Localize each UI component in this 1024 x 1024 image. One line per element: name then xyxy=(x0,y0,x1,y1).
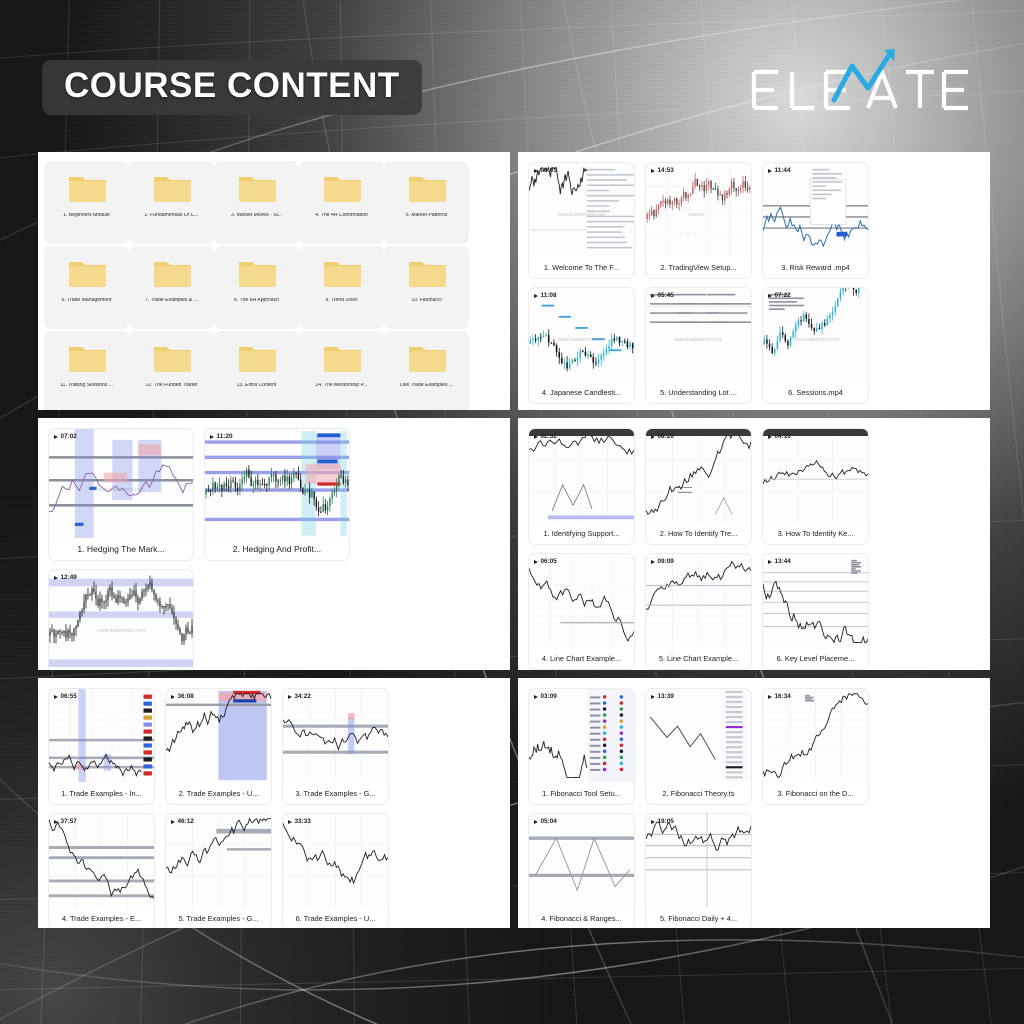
folder-item[interactable]: 12. The Funded Trader xyxy=(129,331,214,410)
play-icon xyxy=(768,294,772,298)
folder-item[interactable]: 1. Beginners Module xyxy=(44,161,129,244)
video-thumbnail[interactable]: 46:12 5. Trade Examples - G... xyxy=(165,813,272,928)
video-duration: 04:10 xyxy=(768,433,791,440)
play-icon xyxy=(171,695,175,699)
video-title: 1. Fibonacci Tool Setu... xyxy=(529,782,634,804)
video-preview xyxy=(646,554,751,647)
panel-fibonacci[interactable]: 03:09 1. Fibonacci Tool Setu...13:39 2. … xyxy=(518,678,990,928)
folder-icon xyxy=(152,341,192,373)
panel-course-folders[interactable]: 1. Beginners Module2. Fundamentals Of C.… xyxy=(38,152,510,410)
duration-text: 34:22 xyxy=(295,693,311,700)
video-duration: 07:22 xyxy=(768,292,791,299)
video-thumbnail[interactable]: 36:08 2. Trade Examples - U... xyxy=(165,688,272,805)
duration-text: 06:55 xyxy=(61,693,77,700)
play-icon xyxy=(210,435,214,439)
video-thumbnail[interactable]: 13:39 2. Fibonacci Theory.ts xyxy=(645,688,752,805)
video-title: 4. Fibonacci & Ranges... xyxy=(529,907,634,928)
video-thumbnail[interactable]: 03:09 1. Fibonacci Tool Setu... xyxy=(528,688,635,805)
play-icon xyxy=(651,695,655,699)
duration-text: 13:39 xyxy=(658,693,674,700)
folder-label: 14. The Mentorship P... xyxy=(302,383,382,389)
play-icon xyxy=(651,560,655,564)
watermark: www.tradesmint.com xyxy=(253,487,301,493)
folder-icon xyxy=(237,171,277,203)
duration-text: 06:05 xyxy=(541,558,557,565)
folder-item[interactable]: 6. Trade Management xyxy=(44,246,129,329)
video-duration: 14:53 xyxy=(651,167,674,174)
video-duration: 12:49 xyxy=(54,574,77,581)
video-thumbnail[interactable]: 07:22 www.tradesmint.com6. Sessions.mp4 xyxy=(762,287,869,404)
duration-text: 07:02 xyxy=(61,433,77,440)
video-duration: 19:05 xyxy=(651,818,674,825)
play-icon xyxy=(651,169,655,173)
duration-text: 16:34 xyxy=(775,693,791,700)
video-title: 5. Fibonacci Daily + 4... xyxy=(646,907,751,928)
play-icon xyxy=(768,435,772,439)
duration-text: 19:05 xyxy=(658,818,674,825)
folder-icon xyxy=(152,171,192,203)
video-thumbnail[interactable]: 06:55 1. Trade Examples - In... xyxy=(48,688,155,805)
play-icon xyxy=(534,560,538,564)
video-duration: 08:26 xyxy=(651,433,674,440)
duration-text: 14:53 xyxy=(658,167,674,174)
folder-icon xyxy=(152,256,192,288)
folder-icon xyxy=(322,171,362,203)
video-duration: 13:39 xyxy=(651,693,674,700)
video-preview xyxy=(283,689,388,782)
watermark: www.tradesmint.com xyxy=(558,337,606,343)
video-duration: 03:09 xyxy=(534,693,557,700)
folder-label: 2. Fundamentals Of C... xyxy=(132,213,212,219)
folder-label: Live Trade Examples ... xyxy=(387,383,467,389)
folder-icon xyxy=(67,171,107,203)
video-title: 6. Trade Examples - U... xyxy=(283,907,388,928)
folder-item[interactable]: 11. Trading Sessions ... xyxy=(44,331,129,410)
play-icon xyxy=(54,820,58,824)
play-icon xyxy=(768,695,772,699)
duration-text: 11:44 xyxy=(775,167,791,174)
video-preview xyxy=(529,689,634,782)
video-title: 1. Hedging The Mark... xyxy=(49,538,193,560)
folder-label: 12. The Funded Trader xyxy=(132,383,212,389)
video-title: 2. TradingView Setup... xyxy=(646,256,751,278)
folder-icon xyxy=(322,256,362,288)
duration-text: 11:08 xyxy=(541,292,557,299)
watermark: www.tradesmint.com xyxy=(558,212,606,218)
folder-item[interactable]: 7. Trade Examples & ... xyxy=(129,246,214,329)
folder-icon xyxy=(407,341,447,373)
play-icon xyxy=(651,294,655,298)
folder-label: 10. Fibonacci xyxy=(387,298,467,304)
video-preview: www.tradesmint.com xyxy=(646,288,751,381)
video-preview xyxy=(529,429,634,522)
video-thumbnail[interactable]: 04:10 3. How To Identify Ke... xyxy=(762,428,869,545)
panel-grid: 1. Beginners Module2. Fundamentals Of C.… xyxy=(38,152,990,922)
video-thumbnail[interactable]: 16:34 3. Fibonacci on the D... xyxy=(762,688,869,805)
video-title: 6. Key Level Placeme... xyxy=(763,647,868,669)
video-thumbnail[interactable]: 37:57 4. Trade Examples - E... xyxy=(48,813,155,928)
video-duration: 11:44 xyxy=(768,167,791,174)
video-preview: www.tradesmint.com xyxy=(763,288,868,381)
video-title: 2. Hedging And Profit... xyxy=(205,538,349,560)
folder-item[interactable]: 10. Fibonacci xyxy=(384,246,469,329)
video-duration: 13:44 xyxy=(768,558,791,565)
video-title: 1. Identifying Support... xyxy=(529,522,634,544)
duration-text: 03:09 xyxy=(541,693,557,700)
folder-label: 7. Trade Examples & ... xyxy=(132,298,212,304)
folder-icon xyxy=(407,256,447,288)
folder-item[interactable]: 13. Extra Content xyxy=(214,331,299,410)
play-icon xyxy=(534,820,538,824)
video-preview xyxy=(283,814,388,907)
play-icon xyxy=(54,576,58,580)
folder-label: 13. Extra Content xyxy=(217,383,297,389)
duration-text: 05:45 xyxy=(658,292,674,299)
video-preview: www.tradesmint.com xyxy=(529,288,634,381)
video-duration: 07:02 xyxy=(54,433,77,440)
video-duration: 06:55 xyxy=(54,693,77,700)
video-preview: www.tradesmint.com xyxy=(529,163,634,256)
duration-text: 05:04 xyxy=(541,818,557,825)
folder-item[interactable]: 8. The 6H Approach xyxy=(214,246,299,329)
video-thumbnail[interactable]: 33:336. Trade Examples - U... xyxy=(282,813,389,928)
play-icon xyxy=(288,695,292,699)
video-thumbnail[interactable]: 11:08 www.tradesmint.com4. Japanese Cand… xyxy=(528,287,635,404)
video-title: 3. Fibonacci on the D... xyxy=(763,782,868,804)
duration-text: 13:44 xyxy=(775,558,791,565)
play-icon xyxy=(288,820,292,824)
folder-item[interactable]: 14. The Mentorship P... xyxy=(299,331,384,410)
video-title: 2. Trade Examples - U... xyxy=(166,782,271,804)
play-icon xyxy=(651,820,655,824)
folder-item[interactable]: 3. Market Moves - Si... xyxy=(214,161,299,244)
video-duration: 08:01 xyxy=(534,167,557,174)
folder-item[interactable]: 2. Fundamentals Of C... xyxy=(129,161,214,244)
video-thumbnail[interactable]: 13:44 6. Key Level Placeme... xyxy=(762,553,869,670)
folder-label: 11. Trading Sessions ... xyxy=(47,383,127,389)
video-thumbnail[interactable]: 02:32 1. Identifying Support... xyxy=(528,428,635,545)
video-preview xyxy=(763,163,868,256)
folder-icon xyxy=(237,341,277,373)
folder-item[interactable]: 9. Trend Lines xyxy=(299,246,384,329)
video-preview xyxy=(529,814,634,907)
elevate-logo xyxy=(748,48,978,120)
video-thumbnail[interactable]: 05:04 4. Fibonacci & Ranges... xyxy=(528,813,635,928)
play-icon xyxy=(54,695,58,699)
video-duration: 11:08 xyxy=(534,292,557,299)
video-title: 4. Japanese Candlesti... xyxy=(529,381,634,403)
video-preview xyxy=(763,554,868,647)
play-icon xyxy=(651,435,655,439)
folder-item[interactable]: 4. The 4H Confirmation xyxy=(299,161,384,244)
video-duration: 46:12 xyxy=(171,818,194,825)
video-preview xyxy=(49,689,154,782)
video-preview xyxy=(166,814,271,907)
duration-text: 37:57 xyxy=(61,818,77,825)
video-thumbnail[interactable]: 19:05 5. Fibonacci Daily + 4... xyxy=(645,813,752,928)
video-preview xyxy=(646,689,751,782)
duration-text: 46:12 xyxy=(178,818,194,825)
video-duration: 33:33 xyxy=(288,818,311,825)
play-icon xyxy=(534,294,538,298)
watermark: www.tradesmint.com xyxy=(675,337,723,343)
video-title: 4. Line Chart Example... xyxy=(529,647,634,669)
folder-label: 9. Trend Lines xyxy=(302,298,382,304)
video-duration: 36:08 xyxy=(171,693,194,700)
video-preview: www.tradesmint.com xyxy=(49,429,193,538)
video-title: 2. Fibonacci Theory.ts xyxy=(646,782,751,804)
video-title: 2. How To Identify Tre... xyxy=(646,522,751,544)
duration-text: 36:08 xyxy=(178,693,194,700)
video-preview xyxy=(763,689,868,782)
panel-trade-management[interactable]: 07:02 www.tradesmint.com1. Hedging The M… xyxy=(38,418,510,670)
play-icon xyxy=(171,820,175,824)
video-thumbnail[interactable]: 08:26 2. How To Identify Tre... xyxy=(645,428,752,545)
page-title-text: COURSE CONTENT xyxy=(64,68,400,105)
duration-text: 33:33 xyxy=(295,818,311,825)
video-thumbnail[interactable]: 07:02 www.tradesmint.com1. Hedging The M… xyxy=(48,428,194,561)
video-preview xyxy=(646,429,751,522)
video-duration: 11:20 xyxy=(210,433,233,440)
folder-item[interactable]: Live Trade Examples ... xyxy=(384,331,469,410)
video-duration: 37:57 xyxy=(54,818,77,825)
duration-text: 04:10 xyxy=(775,433,791,440)
panel-trend-lines[interactable]: 02:32 1. Identifying Support...08:26 2. … xyxy=(518,418,990,670)
watermark: www.tradesmint.com xyxy=(97,487,145,493)
watermark: www.tr... xyxy=(689,212,709,218)
video-duration: 05:04 xyxy=(534,818,557,825)
play-icon xyxy=(768,169,772,173)
video-title: 3. How To Identify Ke... xyxy=(763,522,868,544)
folder-label: 4. The 4H Confirmation xyxy=(302,213,382,219)
video-thumbnail[interactable]: 09:09 5. Line Chart Example... xyxy=(645,553,752,670)
folder-item[interactable]: 5. Market Patterns xyxy=(384,161,469,244)
play-icon xyxy=(534,435,538,439)
video-title: 6. Sessions.mp4 xyxy=(763,381,868,403)
video-thumbnail[interactable]: 12:49 www.tradesmint.com3. Fakeouts & St… xyxy=(48,569,194,670)
video-title: 5. Understanding Lot ... xyxy=(646,381,751,403)
video-title: 1. Trade Examples - In... xyxy=(49,782,154,804)
video-thumbnail[interactable]: 34:22 3. Trade Examples - G... xyxy=(282,688,389,805)
video-preview xyxy=(49,814,154,907)
video-title: 3. Trade Examples - G... xyxy=(283,782,388,804)
video-thumbnail[interactable]: 06:05 4. Line Chart Example... xyxy=(528,553,635,670)
duration-text: 08:26 xyxy=(658,433,674,440)
video-title: 5. Line Chart Example... xyxy=(646,647,751,669)
video-duration: 06:05 xyxy=(534,558,557,565)
video-title: 4. Trade Examples - E... xyxy=(49,907,154,928)
page-title: COURSE CONTENT xyxy=(42,60,422,115)
folder-label: 1. Beginners Module xyxy=(47,213,127,219)
video-title: 3. Risk Reward .mp4 xyxy=(763,256,868,278)
video-thumbnail[interactable]: 11:20 www.tradesmint.com2. Hedging And P… xyxy=(204,428,350,561)
watermark: www.tradesmint.com xyxy=(792,337,840,343)
page-header: COURSE CONTENT xyxy=(0,0,1024,140)
duration-text: 11:20 xyxy=(217,433,233,440)
folder-label: 5. Market Patterns xyxy=(387,213,467,219)
video-preview xyxy=(166,689,271,782)
video-duration: 34:22 xyxy=(288,693,311,700)
play-icon xyxy=(534,169,538,173)
video-preview: www.tradesmint.com xyxy=(49,570,193,670)
video-duration: 16:34 xyxy=(768,693,791,700)
duration-text: 09:09 xyxy=(658,558,674,565)
play-icon xyxy=(54,435,58,439)
video-thumbnail[interactable]: 11:44 3. Risk Reward .mp4 xyxy=(762,162,869,279)
video-thumbnail[interactable]: 08:01 www.tradesmint.com1. Welcome To Th… xyxy=(528,162,635,279)
video-duration: 05:45 xyxy=(651,292,674,299)
folder-icon xyxy=(322,341,362,373)
video-title: 5. Trade Examples - G... xyxy=(166,907,271,928)
folder-icon xyxy=(407,171,447,203)
video-preview xyxy=(529,554,634,647)
video-preview: www.tr... xyxy=(646,163,751,256)
video-preview xyxy=(646,814,751,907)
play-icon xyxy=(768,560,772,564)
video-duration: 09:09 xyxy=(651,558,674,565)
video-thumbnail[interactable]: 14:53www.tr...2. TradingView Setup... xyxy=(645,162,752,279)
play-icon xyxy=(534,695,538,699)
folder-label: 8. The 6H Approach xyxy=(217,298,297,304)
folder-label: 6. Trade Management xyxy=(47,298,127,304)
folder-icon xyxy=(67,256,107,288)
duration-text: 08:01 xyxy=(541,167,557,174)
watermark: www.tradesmint.com xyxy=(97,628,145,634)
folder-label: 3. Market Moves - Si... xyxy=(217,213,297,219)
video-preview xyxy=(763,429,868,522)
video-thumbnail[interactable]: 05:45 www.tradesmint.com5. Understanding… xyxy=(645,287,752,404)
panel-trade-examples[interactable]: 06:55 1. Trade Examples - In...36:08 2. … xyxy=(38,678,510,928)
video-duration: 02:32 xyxy=(534,433,557,440)
video-title: 1. Welcome To The F... xyxy=(529,256,634,278)
video-preview: www.tradesmint.com xyxy=(205,429,349,538)
folder-icon xyxy=(67,341,107,373)
duration-text: 07:22 xyxy=(775,292,791,299)
panel-beginners-module[interactable]: 08:01 www.tradesmint.com1. Welcome To Th… xyxy=(518,152,990,410)
folder-icon xyxy=(237,256,277,288)
duration-text: 02:32 xyxy=(541,433,557,440)
duration-text: 12:49 xyxy=(61,574,77,581)
